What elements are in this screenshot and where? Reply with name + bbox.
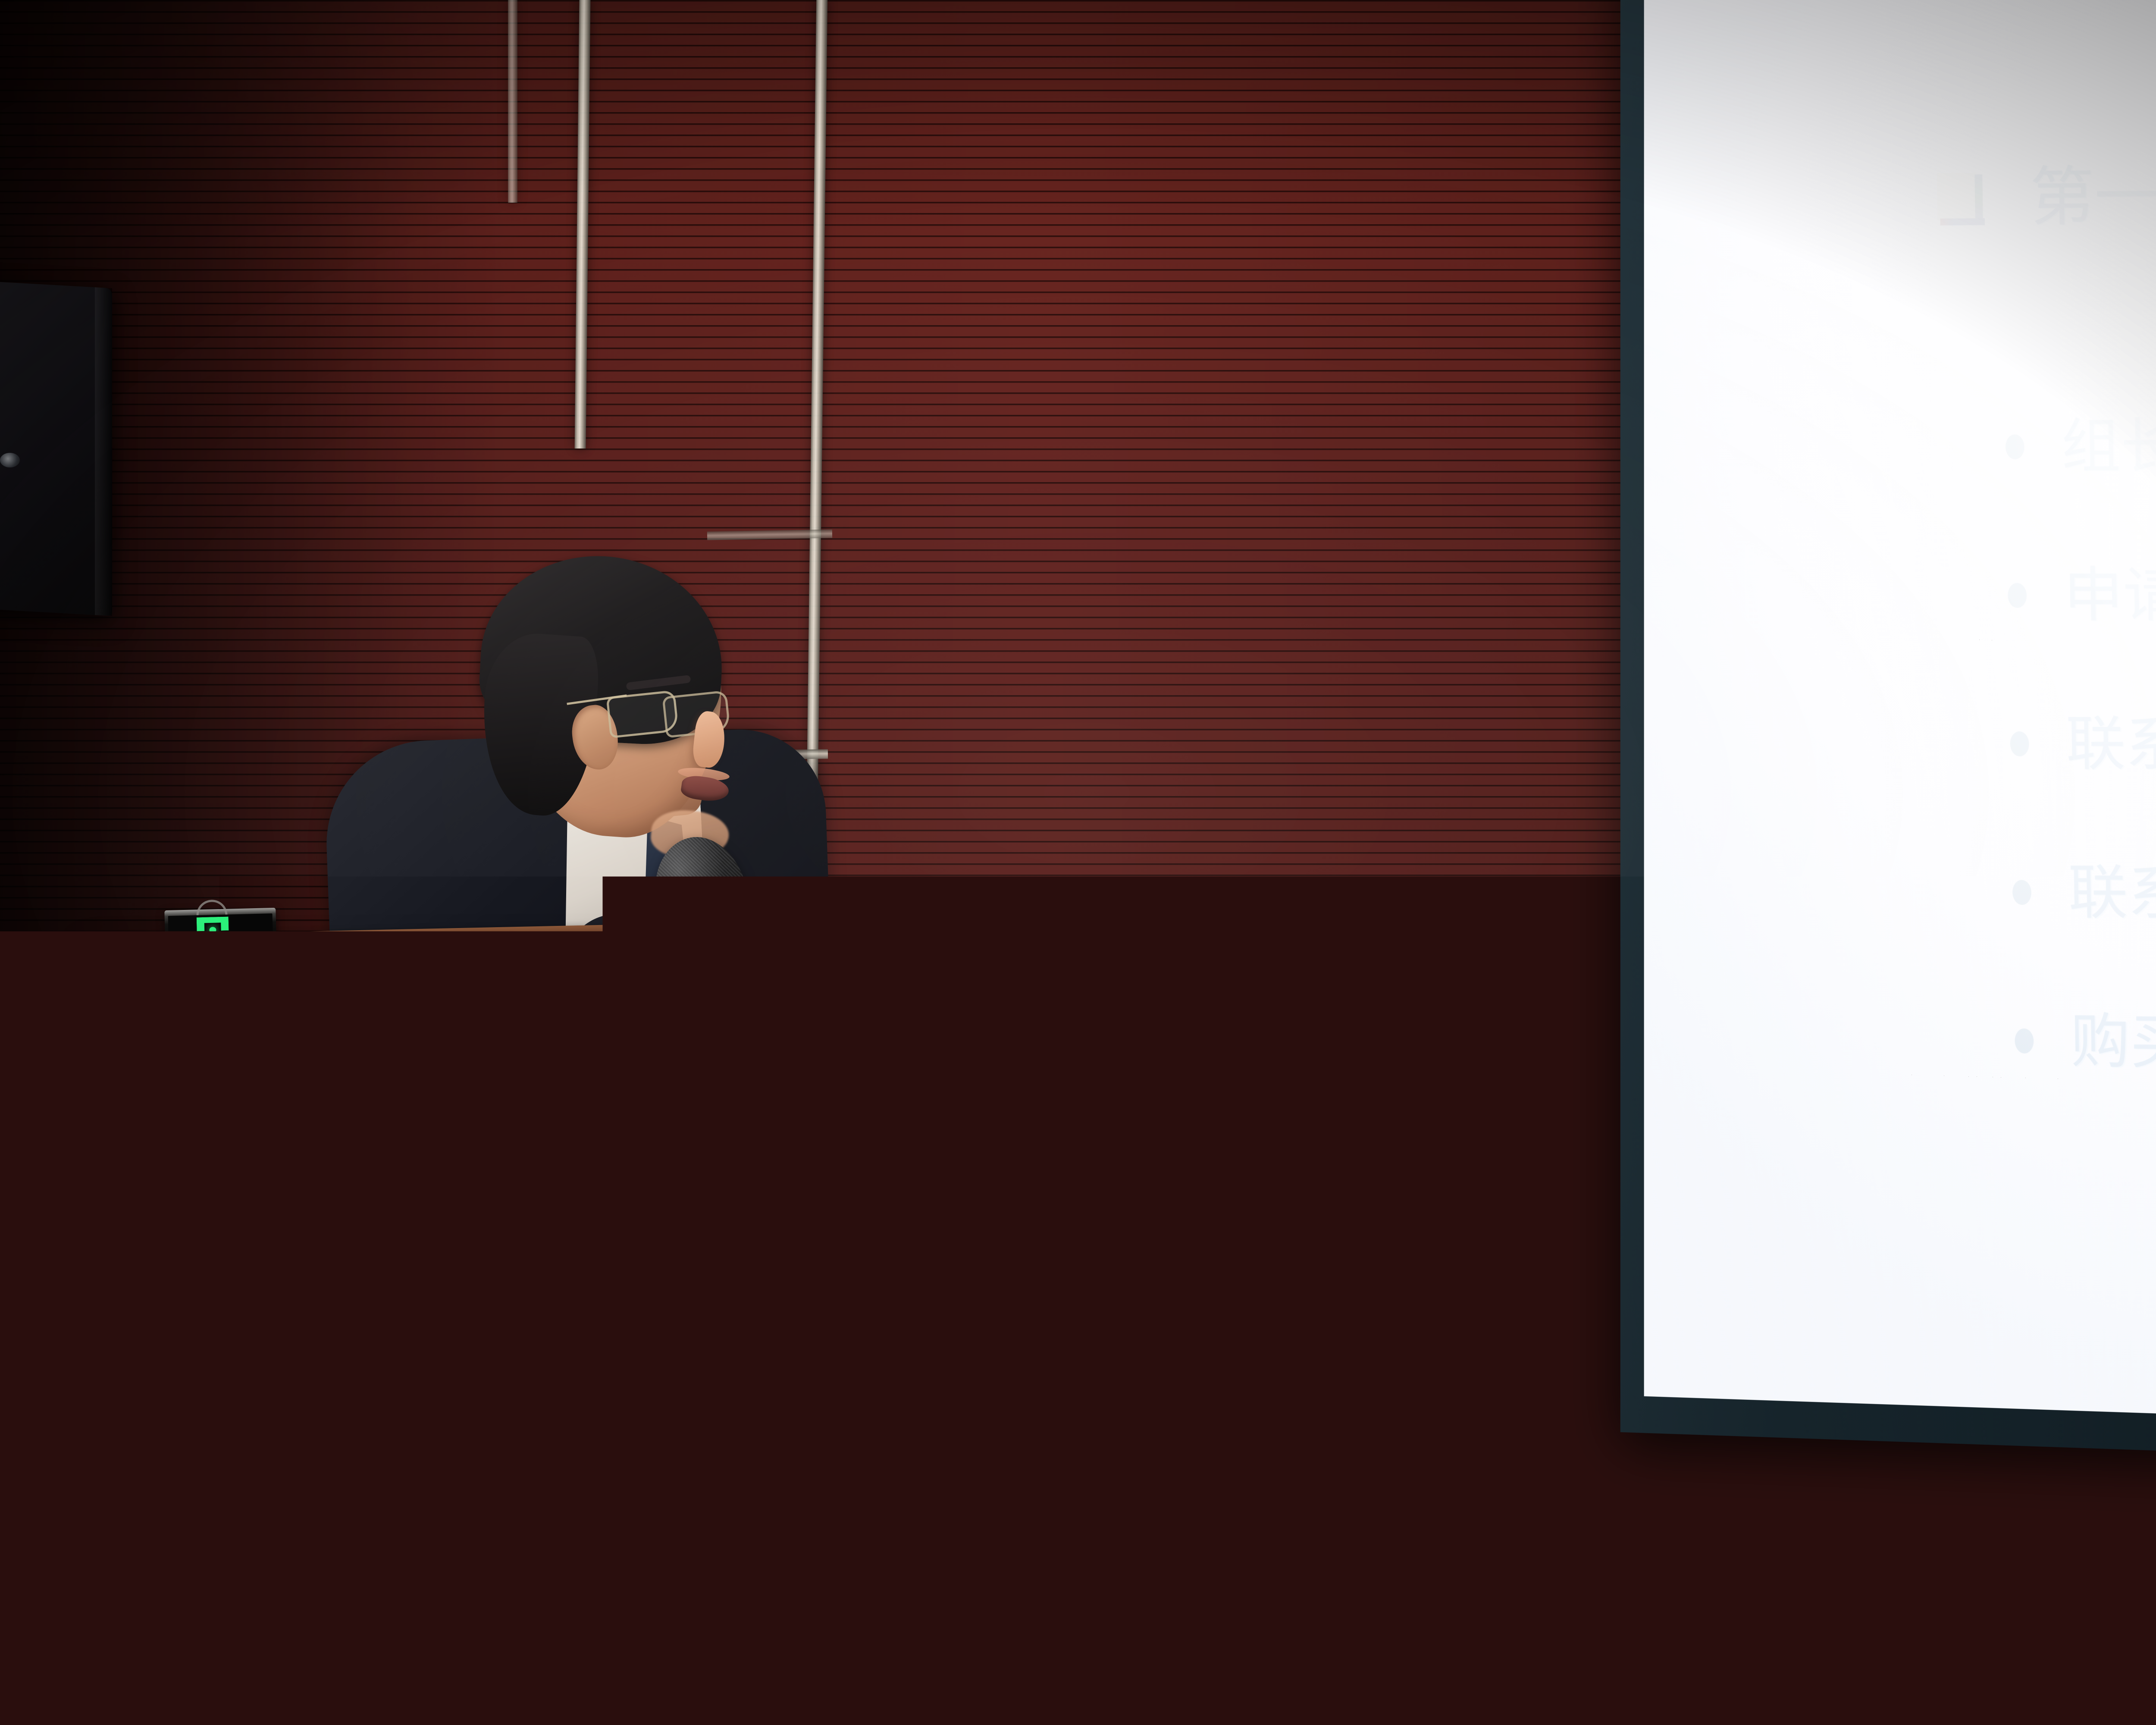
- bullet-dot-icon: [2005, 434, 2024, 459]
- bullet-text: 联系企业: [2065, 714, 2156, 775]
- bullet-text: 组长：程: [2061, 416, 2156, 477]
- lecture-hall-scene: 点 第一组（2 组长: [0, 0, 2156, 1725]
- bullet-dot-icon: [2015, 1028, 2034, 1053]
- podium-status-display[interactable]: [164, 908, 276, 937]
- loudspeaker-icon: [0, 281, 112, 616]
- head: [466, 556, 742, 858]
- foreground-object: [60, 1525, 190, 1552]
- bullet-dot-icon: [2010, 731, 2029, 756]
- slide-bullet-list: 组长：程 申请书撰写 联系企业 联系住宿: [2004, 371, 2156, 1119]
- list-item: 联系住宿: [2011, 818, 2156, 969]
- presentation-slide: 点 第一组（2 组长: [1644, 0, 2156, 1429]
- bookmark-icon: [1937, 172, 1984, 224]
- slide-heading-row: 第一组（2: [1937, 162, 2156, 231]
- foreground-shadow: [0, 1285, 448, 1725]
- loudspeaker-driver-icon: [0, 453, 20, 467]
- projection-screen: 点 第一组（2 组长: [1620, 0, 2156, 1466]
- bullet-text: 联系住宿: [2068, 863, 2156, 924]
- bullet-dot-icon: [2008, 583, 2027, 608]
- bullet-text: 购买车票: [2070, 1011, 2156, 1073]
- wall-trim-strip: [508, 0, 517, 203]
- list-item: 申请书撰写: [2007, 521, 2156, 670]
- crest-chinese-name: 西北工业大学: [295, 1187, 667, 1247]
- list-item: 联系企业: [2009, 669, 2156, 820]
- projection-screen-surface: 点 第一组（2 组长: [1644, 0, 2156, 1429]
- list-item: 组长：程: [2004, 371, 2156, 521]
- list-item: 购买车票: [2014, 966, 2156, 1119]
- bullet-text: 申请书撰写: [2063, 565, 2156, 625]
- bullet-dot-icon: [2012, 880, 2032, 905]
- status-indicator-dot-icon: [209, 927, 216, 933]
- podium-side-panel: [783, 940, 920, 1496]
- display-screen: [168, 913, 273, 934]
- university-crest: NORTHWESTERN POLYTECHNICAL UNIVERSITY 19…: [288, 935, 669, 1290]
- slide-heading: 第一组（2: [2029, 162, 2156, 231]
